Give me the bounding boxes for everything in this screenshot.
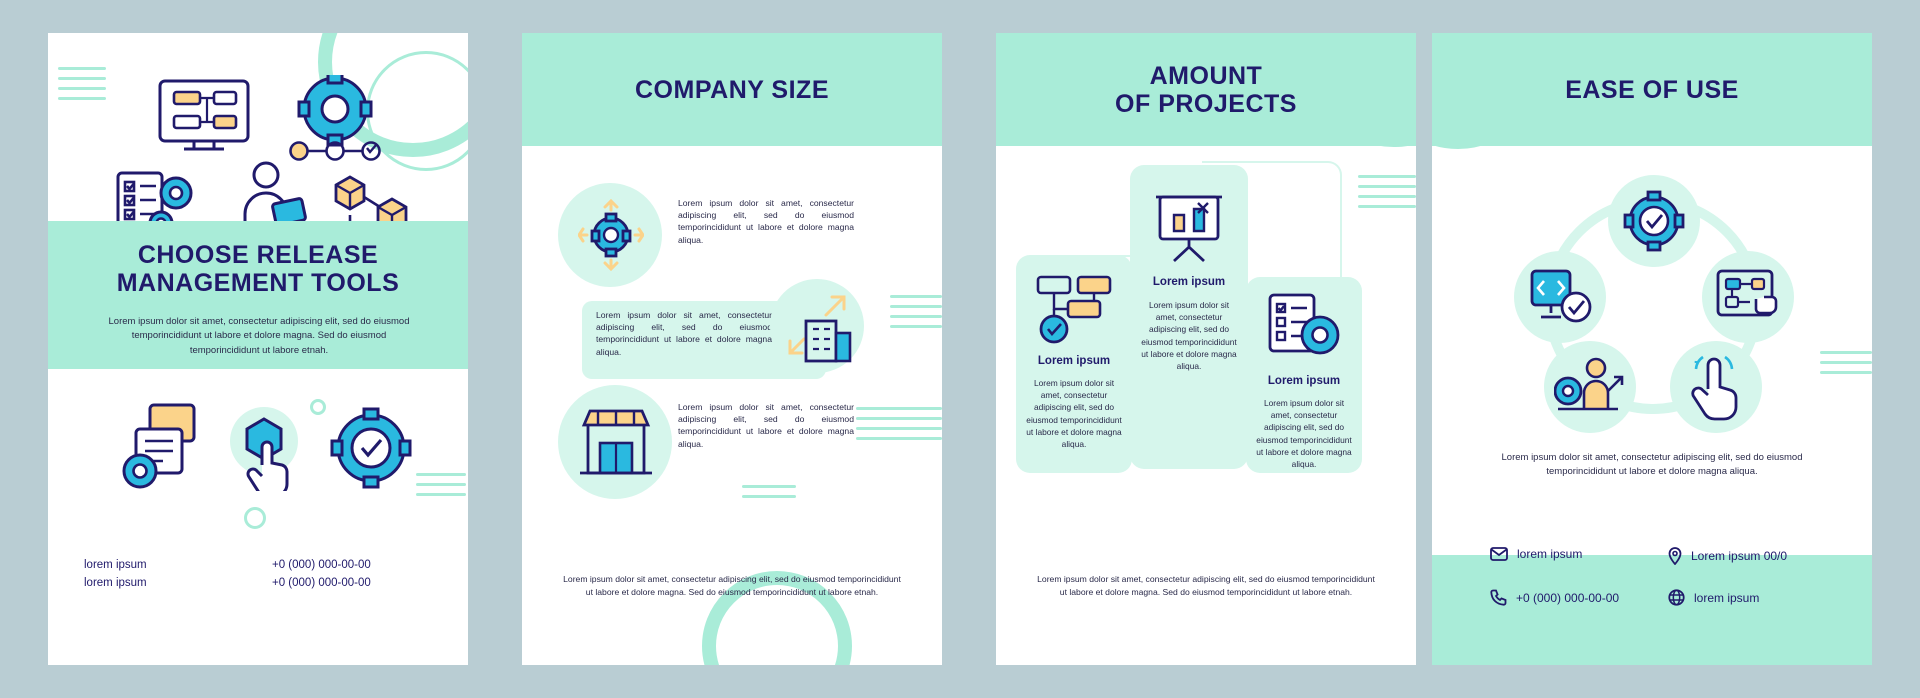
decor-circle-small xyxy=(310,399,326,415)
phone-icon xyxy=(1490,589,1507,606)
card-right-body: Lorem ipsum dolor sit amet, consectetur … xyxy=(1254,397,1354,470)
server-diagram-icon xyxy=(156,77,272,157)
page-amount-of-projects: AMOUNT OF PROJECTS Lorem ipsum Lorem ips… xyxy=(996,33,1416,665)
mail-icon xyxy=(1490,547,1508,561)
cover-contact-left: lorem ipsum lorem ipsum xyxy=(84,557,147,593)
decor-lines-bottom xyxy=(742,485,796,498)
card-left-body: Lorem ipsum dolor sit amet, consectetur … xyxy=(1024,377,1124,450)
checklist-gear-icon xyxy=(1266,291,1344,363)
contact-website[interactable]: lorem ipsum xyxy=(1668,589,1759,606)
footer-band xyxy=(1432,555,1872,665)
contact-phone[interactable]: +0 (000) 000-00-00 xyxy=(1490,589,1619,606)
page-title: CHOOSE RELEASE MANAGEMENT TOOLS xyxy=(68,241,448,297)
globe-icon xyxy=(1668,589,1685,606)
block-1-text: Lorem ipsum dolor sit amet, consectetur … xyxy=(678,197,854,246)
card-center-body: Lorem ipsum dolor sit amet, consectetur … xyxy=(1138,299,1240,372)
decor-lines-left xyxy=(58,67,106,100)
page-title: EASE OF USE xyxy=(1432,33,1872,146)
decor-lines-right-2 xyxy=(856,407,942,440)
location-pin-icon xyxy=(1668,547,1682,565)
decor-circle-small-2 xyxy=(244,507,266,529)
contact-website-label: lorem ipsum xyxy=(1694,591,1759,605)
decor-lines-right-1 xyxy=(890,295,942,328)
description-text: Lorem ipsum dolor sit amet, consectetur … xyxy=(1488,451,1816,480)
contact-address[interactable]: Lorem ipsum 00/0 xyxy=(1668,547,1787,565)
page-company-size: COMPANY SIZE Lorem ipsum dolor sit amet,… xyxy=(522,33,942,665)
footer-text: Lorem ipsum dolor sit amet, consectetur … xyxy=(562,573,902,599)
decor-lines-right xyxy=(1820,351,1872,374)
flowchart-check-icon xyxy=(1034,271,1114,345)
footer-text: Lorem ipsum dolor sit amet, consectetur … xyxy=(1036,573,1376,599)
contact-phone-label: +0 (000) 000-00-00 xyxy=(1516,591,1619,605)
contact-email[interactable]: lorem ipsum xyxy=(1490,547,1582,561)
gear-process-icon xyxy=(282,75,388,161)
brochure-stage: CHOOSE RELEASE MANAGEMENT TOOLS Lorem ip… xyxy=(0,0,1920,698)
block-3-text: Lorem ipsum dolor sit amet, consectetur … xyxy=(678,401,854,450)
storefront-icon xyxy=(576,405,656,481)
gear-check-lightbulb-icon xyxy=(328,405,414,491)
page-ease-of-use: EASE OF USE xyxy=(1432,33,1872,665)
presentation-board-icon xyxy=(1152,191,1228,263)
office-building-icon xyxy=(784,289,856,365)
cover-description: Lorem ipsum dolor sit amet, consectetur … xyxy=(103,315,415,358)
person-gear-icon xyxy=(1554,357,1630,419)
gear-check-icon xyxy=(1622,189,1686,253)
card-center-heading: Lorem ipsum xyxy=(1130,276,1248,288)
dashboard-touch-icon xyxy=(1714,267,1784,329)
card-right-heading: Lorem ipsum xyxy=(1246,375,1362,387)
page-cover: CHOOSE RELEASE MANAGEMENT TOOLS Lorem ip… xyxy=(48,33,468,665)
page-title: COMPANY SIZE xyxy=(522,33,942,146)
resize-gear-icon xyxy=(578,199,644,271)
document-gear-icon xyxy=(120,403,212,493)
hand-select-hex-icon xyxy=(226,405,306,491)
card-left-heading: Lorem ipsum xyxy=(1016,355,1132,367)
finger-tap-icon xyxy=(1688,355,1746,421)
contact-address-label: Lorem ipsum 00/0 xyxy=(1691,549,1787,563)
decor-lines-right xyxy=(416,473,466,496)
block-2-text: Lorem ipsum dolor sit amet, consectetur … xyxy=(596,309,772,358)
cover-contact-right: +0 (000) 000-00-00 +0 (000) 000-00-00 xyxy=(272,557,371,593)
decor-lines-right xyxy=(1358,175,1416,208)
contact-email-label: lorem ipsum xyxy=(1517,547,1582,561)
page-title: AMOUNT OF PROJECTS xyxy=(996,33,1416,146)
code-monitor-check-icon xyxy=(1528,267,1594,329)
